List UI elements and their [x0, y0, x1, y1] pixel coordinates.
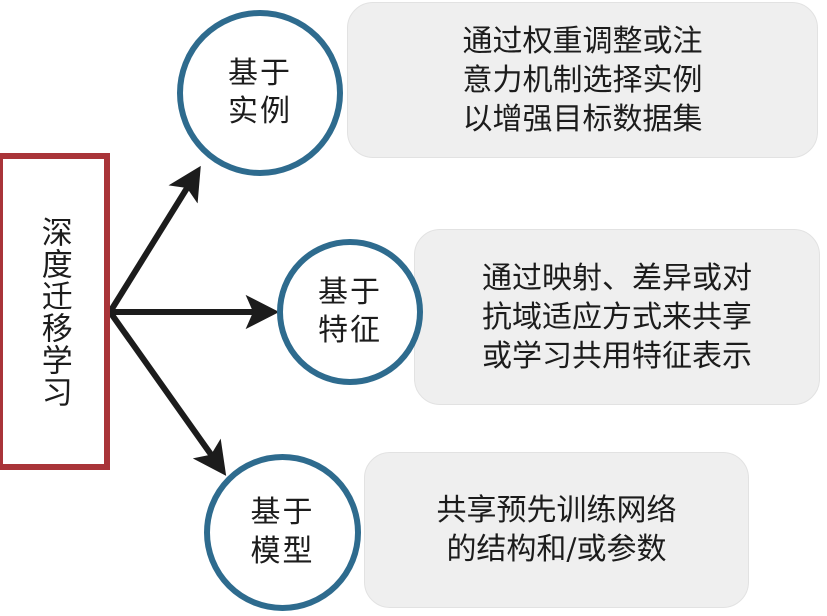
description-line: 以增强目标数据集	[463, 100, 703, 139]
description-line: 抗域适应方式来共享	[482, 298, 752, 337]
branch-circle-label-line-2: 特征	[318, 312, 382, 350]
branch-description-model-based[interactable]: 共享预先训练网络 的结构和/或参数	[364, 452, 749, 608]
branch-circle-instance-based[interactable]: 基于 实例	[177, 10, 343, 176]
diagram-canvas: 深度迁移学习 基于 实例 通过权重调整或注 意力机制选择实例 以增强目标数据集 …	[0, 0, 827, 616]
branch-circle-label-line-2: 实例	[228, 93, 292, 131]
branch-circle-model-based[interactable]: 基于 模型	[204, 454, 361, 611]
description-line: 共享预先训练网络	[437, 491, 677, 530]
branch-description-feature-based[interactable]: 通过映射、差异或对 抗域适应方式来共享 或学习共用特征表示	[414, 229, 820, 405]
branch-description-instance-based[interactable]: 通过权重调整或注 意力机制选择实例 以增强目标数据集	[347, 2, 818, 158]
arrow-to-model-icon	[110, 312, 222, 470]
description-line: 的结构和/或参数	[446, 530, 666, 569]
branch-circle-label-line-1: 基于	[318, 274, 382, 312]
root-node-label: 深度迁移学习	[34, 216, 72, 408]
branch-circle-label-line-2: 模型	[251, 533, 315, 571]
root-node-deep-transfer-learning[interactable]: 深度迁移学习	[0, 153, 110, 470]
arrow-to-instance-icon	[110, 172, 197, 312]
branch-circle-label-line-1: 基于	[251, 494, 315, 532]
branch-circle-feature-based[interactable]: 基于 特征	[277, 239, 423, 385]
branch-circle-label-line-1: 基于	[228, 55, 292, 93]
description-line: 通过映射、差异或对	[482, 259, 752, 298]
description-line: 意力机制选择实例	[463, 61, 703, 100]
description-line: 通过权重调整或注	[463, 22, 703, 61]
description-line: 或学习共用特征表示	[482, 337, 752, 376]
